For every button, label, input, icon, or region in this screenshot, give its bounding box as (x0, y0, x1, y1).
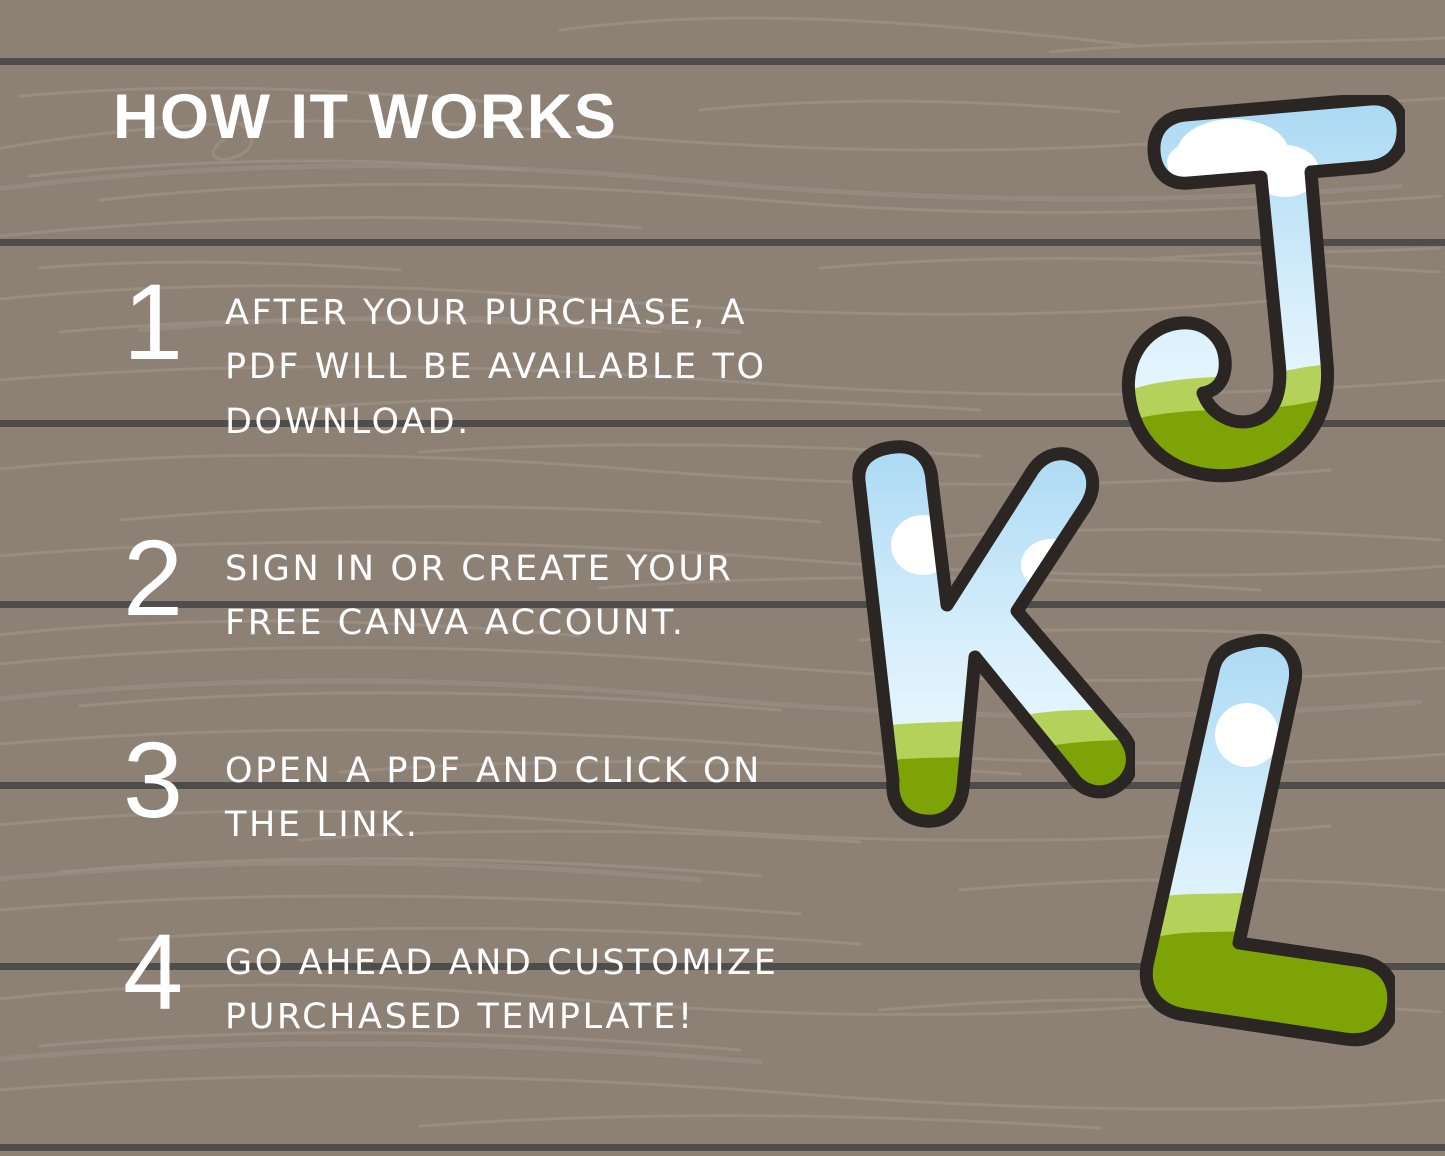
slide-canvas: HOW IT WORKS 1 AFTER YOUR PURCHASE, A PD… (0, 0, 1445, 1156)
step-text-4: GO AHEAD AND CUSTOMIZE PURCHASED TEMPLAT… (225, 922, 820, 1045)
step-item-4: 4 GO AHEAD AND CUSTOMIZE PURCHASED TEMPL… (113, 922, 820, 1045)
step-number-1: 1 (113, 272, 225, 371)
decorative-letter-k-icon (835, 435, 1135, 835)
step-text-3: OPEN A PDF AND CLICK ON THE LINK. (225, 730, 820, 853)
plank-divider-7 (0, 1144, 1445, 1151)
plank-divider-1 (0, 58, 1445, 65)
page-title: HOW IT WORKS (113, 86, 617, 149)
step-item-2: 2 SIGN IN OR CREATE YOUR FREE CANVA ACCO… (113, 528, 820, 651)
step-number-4: 4 (113, 922, 225, 1021)
step-item-1: 1 AFTER YOUR PURCHASE, A PDF WILL BE AVA… (113, 272, 820, 449)
step-number-2: 2 (113, 528, 225, 627)
step-number-3: 3 (113, 730, 225, 829)
decorative-letter-l-icon (1135, 625, 1395, 1055)
step-text-1: AFTER YOUR PURCHASE, A PDF WILL BE AVAIL… (225, 272, 820, 449)
step-item-3: 3 OPEN A PDF AND CLICK ON THE LINK. (113, 730, 820, 853)
step-text-2: SIGN IN OR CREATE YOUR FREE CANVA ACCOUN… (225, 528, 820, 651)
decorative-letter-j-icon (1115, 95, 1405, 495)
